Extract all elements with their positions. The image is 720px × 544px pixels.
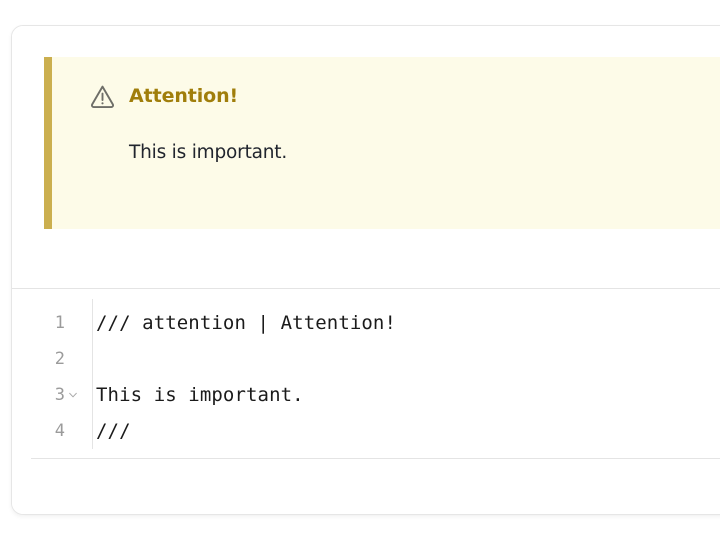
card-footer (12, 459, 720, 514)
fold-slot (65, 323, 81, 324)
code-pane[interactable]: 1 /// attention | Attention! 2 3 (12, 289, 720, 459)
fold-slot[interactable] (65, 390, 81, 401)
code-bottom-divider (31, 458, 720, 459)
code-line[interactable]: 4 /// (12, 413, 720, 449)
fold-slot (65, 359, 81, 360)
admonition-body: This is important. (129, 141, 720, 165)
admonition-title-row: Attention! (89, 79, 720, 113)
line-gutter: 3 (12, 377, 81, 413)
admonition-attention: Attention! This is important. (44, 57, 720, 229)
code-line[interactable]: 1 /// attention | Attention! (12, 305, 720, 341)
fold-slot (65, 431, 81, 432)
code-line-text: /// (81, 413, 131, 449)
line-gutter: 4 (12, 413, 81, 449)
line-gutter: 1 (12, 305, 81, 341)
example-card: Attention! This is important. 1 /// atte… (11, 25, 720, 515)
code-line-text: This is important. (81, 377, 304, 413)
preview-pane: Attention! This is important. (12, 26, 720, 288)
line-gutter: 2 (12, 341, 81, 377)
line-number: 2 (43, 341, 65, 377)
code-line-list: 1 /// attention | Attention! 2 3 (12, 305, 720, 449)
code-line[interactable]: 3 This is important. (12, 377, 720, 413)
code-line[interactable]: 2 (12, 341, 720, 377)
line-number: 1 (43, 305, 65, 341)
line-number: 3 (43, 377, 65, 413)
admonition-title: Attention! (129, 87, 238, 106)
warning-triangle-icon (89, 83, 116, 110)
line-number: 4 (43, 413, 65, 449)
chevron-down-icon[interactable] (68, 390, 78, 400)
code-line-text: /// attention | Attention! (81, 305, 396, 341)
